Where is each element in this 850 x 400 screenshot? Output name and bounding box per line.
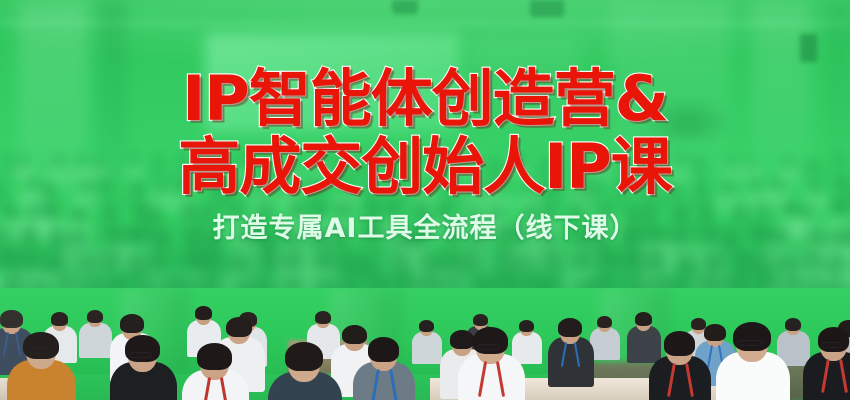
attendee-hair xyxy=(0,310,22,327)
attendee-hair xyxy=(51,312,69,326)
attendee-hair xyxy=(558,318,582,336)
attendee-glasses xyxy=(477,344,500,350)
attendee-hair xyxy=(226,317,252,337)
promo-banner: IP智能体创造营& 高成交创始人IP课 打造专属AI工具全流程（线下课） xyxy=(0,0,850,400)
attendee-hair xyxy=(285,342,323,371)
title-line-1: IP智能体创造营& xyxy=(182,66,668,132)
attendee-hair xyxy=(87,310,104,323)
attendee-hair xyxy=(450,330,474,348)
attendee-hair xyxy=(473,327,507,354)
attendee-hair xyxy=(368,337,400,362)
attendee-hair xyxy=(23,332,58,360)
attendee xyxy=(476,324,551,400)
attendees-photo-band xyxy=(0,288,850,400)
attendee-torso xyxy=(627,326,662,364)
attendee-hair xyxy=(125,335,159,362)
attendee xyxy=(560,316,612,384)
attendee xyxy=(26,328,104,400)
attendee-hair xyxy=(818,327,850,352)
attendee-glasses xyxy=(821,342,842,347)
attendee-hair xyxy=(419,320,434,332)
attendee-hair xyxy=(120,314,144,332)
attendee-hair xyxy=(195,306,213,320)
attendee xyxy=(200,340,275,400)
attendee-hair xyxy=(664,331,696,356)
attendee-glasses xyxy=(129,352,152,358)
attendee-hair xyxy=(635,312,653,326)
title-line-2: 高成交创始人IP课 xyxy=(178,134,672,200)
attendee xyxy=(370,334,440,400)
attendee-hair xyxy=(197,343,231,370)
headline-block: IP智能体创造营& 高成交创始人IP课 打造专属AI工具全流程（线下课） xyxy=(0,0,850,302)
subtitle-text: 打造专属AI工具全流程（线下课） xyxy=(213,213,638,245)
attendee-glasses xyxy=(738,340,763,346)
attendee-glasses xyxy=(3,321,18,325)
attendee xyxy=(820,324,850,400)
attendee-hair xyxy=(315,311,332,324)
attendee-hair xyxy=(733,322,771,351)
attendee-torso xyxy=(548,337,594,387)
attendee-glasses xyxy=(28,348,51,354)
